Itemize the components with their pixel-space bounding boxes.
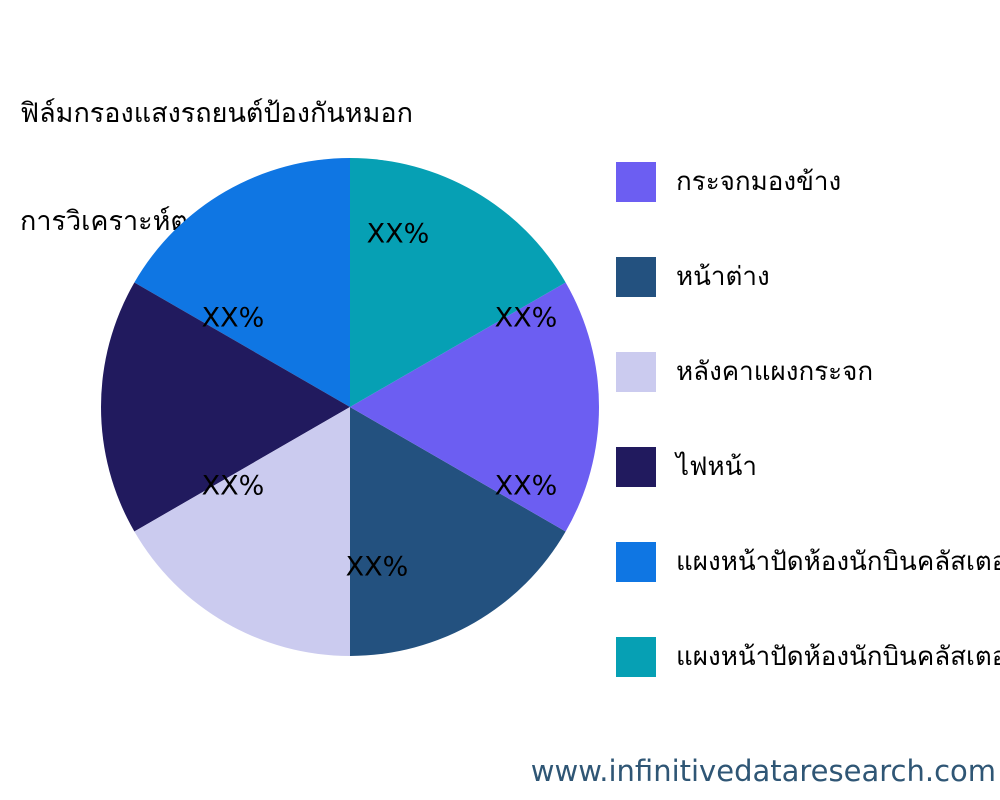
legend-item[interactable]: ไฟหน้า — [616, 445, 757, 489]
legend-item-label: หน้าต่าง — [676, 264, 770, 290]
legend-item[interactable]: หลังคาแผงกระจก — [616, 350, 873, 394]
legend-item-label: ไฟหน้า — [676, 454, 757, 480]
legend-item[interactable]: แผงหน้าปัดห้องนักบินคลัสเตอร์ — [616, 635, 1000, 679]
pie-chart-svg: XX%XX%XX%XX%XX%XX% — [100, 157, 600, 657]
chart-legend: กระจกมองข้างหน้าต่างหลังคาแผงกระจกไฟหน้า… — [616, 160, 1000, 700]
legend-item[interactable]: กระจกมองข้าง — [616, 160, 841, 204]
legend-color-swatch — [616, 542, 656, 582]
legend-item-label: แผงหน้าปัดห้องนักบินคลัสเตอร์ — [676, 644, 1000, 670]
page-title-line-1: ฟิล์มกรองแสงรถยนต์ป้องกันหมอก — [20, 96, 437, 132]
pie-chart: XX%XX%XX%XX%XX%XX% — [100, 157, 600, 657]
legend-color-swatch — [616, 352, 656, 392]
source-url[interactable]: www.infinitivedataresearch.com — [0, 754, 1000, 788]
legend-item-label: หลังคาแผงกระจก — [676, 359, 873, 385]
legend-color-swatch — [616, 447, 656, 487]
legend-item-label: แผงหน้าปัดห้องนักบินคลัสเตอร์ — [676, 549, 1000, 575]
pie-slice-label: XX% — [202, 471, 265, 502]
pie-slice-label: XX% — [346, 552, 409, 583]
legend-item[interactable]: หน้าต่าง — [616, 255, 770, 299]
legend-item-label: กระจกมองข้าง — [676, 169, 841, 195]
pie-slice-label: XX% — [495, 303, 558, 334]
legend-color-swatch — [616, 637, 656, 677]
pie-slice-label: XX% — [202, 303, 265, 334]
legend-item[interactable]: แผงหน้าปัดห้องนักบินคลัสเตอร์ — [616, 540, 1000, 584]
legend-color-swatch — [616, 257, 656, 297]
pie-slice-label: XX% — [367, 219, 430, 250]
legend-color-swatch — [616, 162, 656, 202]
pie-slice-label: XX% — [495, 471, 558, 502]
